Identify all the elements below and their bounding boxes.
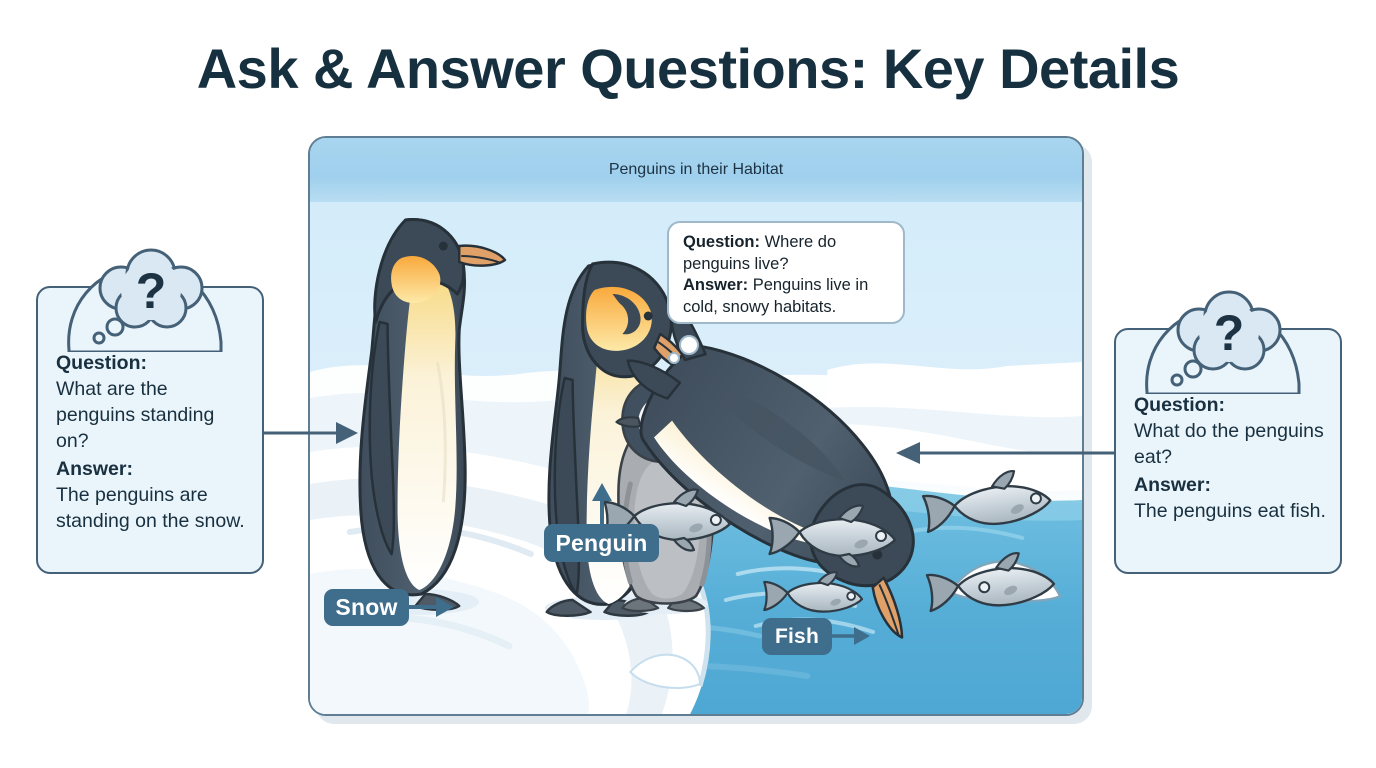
scene-header: Penguins in their Habitat xyxy=(310,138,1082,203)
qa-card-left-text: Question: What are the penguins standing… xyxy=(56,350,248,536)
inner-callout-answer: Answer: Penguins live in cold, snowy hab… xyxy=(683,275,893,318)
inner-answer-label: Answer: xyxy=(683,276,748,294)
left-question-text: What are the penguins standing on? xyxy=(56,376,248,454)
qa-card-right: ? Question: What do the penguins eat? An… xyxy=(1114,328,1342,574)
inner-question-label: Question: xyxy=(683,233,760,251)
right-question-label: Question: xyxy=(1134,392,1326,418)
connector-arrow-right xyxy=(896,440,1120,466)
thought-bubble-question-icon: ? xyxy=(1143,274,1313,394)
svg-text:?: ? xyxy=(136,263,167,319)
inner-callout-question: Question: Where do penguins live? xyxy=(683,232,893,275)
right-question-text: What do the penguins eat? xyxy=(1134,418,1326,470)
right-answer-text: The penguins eat fish. xyxy=(1134,498,1326,524)
inner-callout-qa: Question: Where do penguins live? Answer… xyxy=(667,221,905,324)
label-snow: Snow xyxy=(324,589,409,626)
svg-text:?: ? xyxy=(1214,305,1245,361)
scene-header-title: Penguins in their Habitat xyxy=(609,161,783,179)
label-penguin: Penguin xyxy=(544,524,659,562)
left-answer-text: The penguins are standing on the snow. xyxy=(56,482,248,534)
qa-card-right-text: Question: What do the penguins eat? Answ… xyxy=(1134,392,1326,526)
penguin-label-arrow-icon xyxy=(590,483,614,527)
right-answer-label: Answer: xyxy=(1134,472,1326,498)
left-question-label: Question: xyxy=(56,350,248,376)
callout-tail-bubble-large xyxy=(679,335,699,355)
qa-card-left: ? Question: What are the penguins standi… xyxy=(36,286,264,574)
snow-label-arrow-icon xyxy=(408,595,454,619)
fish-label-arrow-icon xyxy=(830,625,870,647)
callout-tail-bubble-small xyxy=(668,352,680,364)
label-fish: Fish xyxy=(762,618,832,655)
thought-bubble-question-icon: ? xyxy=(65,232,235,352)
left-answer-label: Answer: xyxy=(56,456,248,482)
page-title: Ask & Answer Questions: Key Details xyxy=(0,36,1376,101)
connector-arrow-left xyxy=(262,420,358,446)
